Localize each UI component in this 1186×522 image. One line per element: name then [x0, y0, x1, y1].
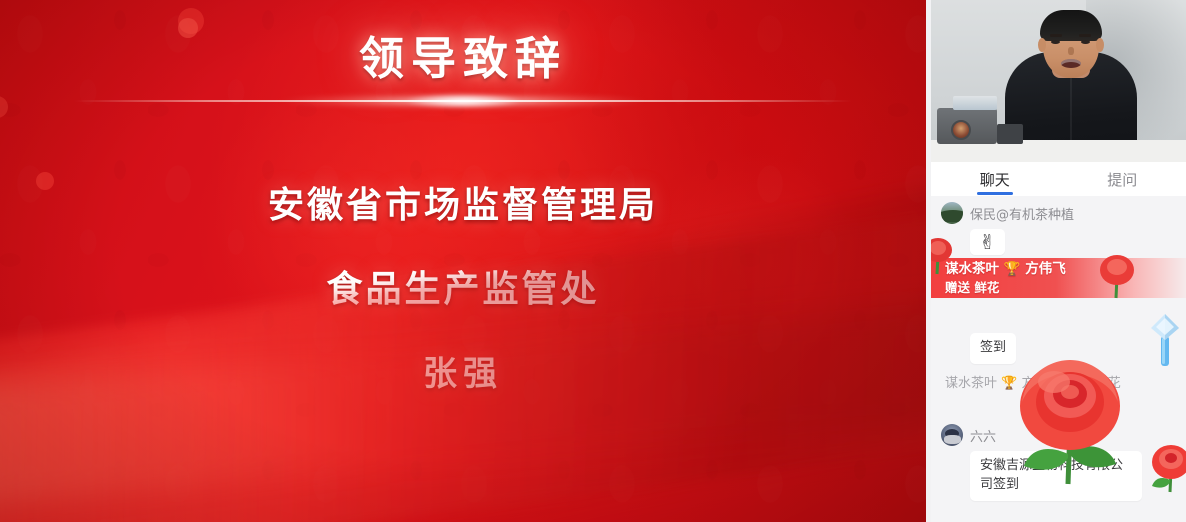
chat-message: 保民@有机茶种植 ✌	[931, 196, 1186, 257]
live-stream-window: 领导致辞 安徽省市场监督管理局 食品生产监管处 张强	[0, 0, 1186, 522]
speaker-eyebrow	[1050, 34, 1062, 37]
chat-nickname: 保民@有机茶种植	[970, 204, 1074, 223]
panel-tabs: 聊天 提问	[931, 162, 1186, 197]
avatar-image	[941, 202, 963, 224]
chat-message-header: 保民@有机茶种植	[941, 202, 1176, 224]
chat-message-header: 六六	[941, 424, 1176, 446]
speaker-video[interactable]	[931, 0, 1186, 162]
gift-banner: 谋水茶叶 🏆 方伟飞 赠送 鲜花	[931, 258, 1186, 298]
desk-object	[997, 124, 1023, 144]
desk-device-dial	[951, 120, 971, 140]
chat-message-faded: 谋水茶叶 🏆 方伟飞 赠送 鲜花	[945, 372, 1185, 391]
speaker-ear	[1038, 38, 1046, 52]
beam-spark	[407, 94, 518, 108]
desk-papers	[953, 96, 997, 110]
avatar[interactable]	[941, 202, 963, 224]
avatar-image	[941, 424, 963, 446]
presentation-slide: 领导致辞 安徽省市场监督管理局 食品生产监管处 张强	[0, 0, 926, 522]
speaker-ear	[1096, 38, 1104, 52]
chat-message: 六六 安徽吉源生物科技有限公司签到	[931, 418, 1186, 503]
chat-bubble-text: 签到	[970, 333, 1016, 364]
chat-message: 签到	[931, 300, 1186, 366]
speaker-eyebrow	[1079, 34, 1091, 37]
title-divider-beam	[0, 90, 926, 112]
tab-chat[interactable]: 聊天	[931, 162, 1059, 196]
speaker-nose	[1068, 47, 1074, 55]
gift-banner-sender: 谋水茶叶 🏆 方伟飞	[945, 260, 1186, 279]
slide-title: 领导致辞	[0, 22, 926, 87]
avatar[interactable]	[941, 424, 963, 446]
speaker-eye	[1051, 40, 1060, 44]
chat-message-header	[941, 306, 1176, 328]
chat-list[interactable]: 保民@有机茶种植 ✌ 谋水茶叶 🏆 方伟飞 赠送 鲜花 签到 谋水茶叶 🏆 方伟…	[931, 196, 1186, 522]
side-panel: 聊天 提问 保民@有机茶种植 ✌ 谋水茶叶 🏆 方伟飞 赠送 鲜花	[926, 0, 1186, 522]
tab-questions[interactable]: 提问	[1059, 162, 1186, 196]
chat-bubble-text: 安徽吉源生物科技有限公司签到	[970, 451, 1142, 501]
chat-bubble-emoji: ✌	[970, 229, 1005, 255]
gift-banner-action: 赠送 鲜花	[945, 279, 1186, 296]
chat-nickname: 六六	[970, 426, 996, 445]
speaker-mouth	[1061, 59, 1081, 68]
speaker-eye	[1081, 40, 1090, 44]
